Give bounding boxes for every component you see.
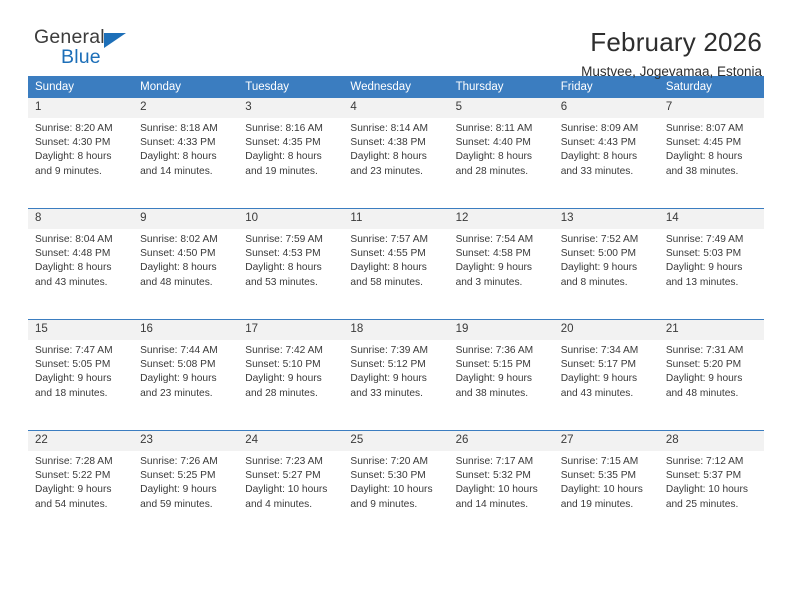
daylight-text-line1: Daylight: 10 hours [350, 483, 442, 497]
day-details: Sunrise: 7:59 AM Sunset: 4:53 PM Dayligh… [238, 229, 343, 290]
sunrise-text: Sunrise: 8:09 AM [561, 122, 653, 136]
day-cell[interactable]: 1 Sunrise: 8:20 AM Sunset: 4:30 PM Dayli… [28, 98, 133, 209]
day-cell[interactable]: 21 Sunrise: 7:31 AM Sunset: 5:20 PM Dayl… [659, 320, 764, 431]
daylight-text-line2: and 33 minutes. [561, 165, 653, 179]
daylight-text-line2: and 28 minutes. [245, 387, 337, 401]
day-number: 9 [133, 209, 238, 229]
day-cell[interactable]: 12 Sunrise: 7:54 AM Sunset: 4:58 PM Dayl… [449, 209, 554, 320]
sunrise-text: Sunrise: 7:59 AM [245, 233, 337, 247]
day-details: Sunrise: 7:31 AM Sunset: 5:20 PM Dayligh… [659, 340, 764, 401]
day-cell[interactable]: 13 Sunrise: 7:52 AM Sunset: 5:00 PM Dayl… [554, 209, 659, 320]
sunset-text: Sunset: 5:17 PM [561, 358, 653, 372]
daylight-text-line1: Daylight: 9 hours [666, 261, 758, 275]
day-number: 18 [343, 320, 448, 340]
daylight-text-line2: and 48 minutes. [140, 276, 232, 290]
day-number: 3 [238, 98, 343, 118]
day-cell[interactable]: 16 Sunrise: 7:44 AM Sunset: 5:08 PM Dayl… [133, 320, 238, 431]
calendar-page: General Blue February 2026 Mustvee, Joge… [0, 0, 792, 612]
sunset-text: Sunset: 5:12 PM [350, 358, 442, 372]
day-details: Sunrise: 7:42 AM Sunset: 5:10 PM Dayligh… [238, 340, 343, 401]
daylight-text-line1: Daylight: 9 hours [350, 372, 442, 386]
sunrise-text: Sunrise: 7:52 AM [561, 233, 653, 247]
day-cell[interactable]: 14 Sunrise: 7:49 AM Sunset: 5:03 PM Dayl… [659, 209, 764, 320]
day-number: 6 [554, 98, 659, 118]
title-block: February 2026 Mustvee, Jogevamaa, Estoni… [581, 26, 764, 82]
day-details: Sunrise: 8:04 AM Sunset: 4:48 PM Dayligh… [28, 229, 133, 290]
sunrise-text: Sunrise: 7:47 AM [35, 344, 127, 358]
day-details: Sunrise: 7:34 AM Sunset: 5:17 PM Dayligh… [554, 340, 659, 401]
sunrise-text: Sunrise: 8:02 AM [140, 233, 232, 247]
sunrise-text: Sunrise: 7:31 AM [666, 344, 758, 358]
day-number: 10 [238, 209, 343, 229]
daylight-text-line2: and 9 minutes. [35, 165, 127, 179]
daylight-text-line2: and 25 minutes. [666, 498, 758, 512]
sunset-text: Sunset: 5:25 PM [140, 469, 232, 483]
sunrise-text: Sunrise: 7:44 AM [140, 344, 232, 358]
sunset-text: Sunset: 5:20 PM [666, 358, 758, 372]
day-cell[interactable]: 10 Sunrise: 7:59 AM Sunset: 4:53 PM Dayl… [238, 209, 343, 320]
daylight-text-line1: Daylight: 9 hours [140, 483, 232, 497]
sunset-text: Sunset: 5:08 PM [140, 358, 232, 372]
daylight-text-line2: and 38 minutes. [456, 387, 548, 401]
day-cell[interactable]: 24 Sunrise: 7:23 AM Sunset: 5:27 PM Dayl… [238, 431, 343, 542]
weekday-header-thursday: Thursday [449, 76, 554, 98]
sunset-text: Sunset: 4:45 PM [666, 136, 758, 150]
sunrise-sunset-calendar: Sunday Monday Tuesday Wednesday Thursday… [28, 76, 764, 541]
sunrise-text: Sunrise: 7:17 AM [456, 455, 548, 469]
sunset-text: Sunset: 5:15 PM [456, 358, 548, 372]
daylight-text-line2: and 58 minutes. [350, 276, 442, 290]
day-details: Sunrise: 8:02 AM Sunset: 4:50 PM Dayligh… [133, 229, 238, 290]
weekday-header-tuesday: Tuesday [238, 76, 343, 98]
day-details: Sunrise: 7:44 AM Sunset: 5:08 PM Dayligh… [133, 340, 238, 401]
daylight-text-line1: Daylight: 10 hours [245, 483, 337, 497]
daylight-text-line2: and 3 minutes. [456, 276, 548, 290]
sunset-text: Sunset: 5:37 PM [666, 469, 758, 483]
page-header: General Blue February 2026 Mustvee, Joge… [28, 0, 764, 72]
sunrise-text: Sunrise: 7:28 AM [35, 455, 127, 469]
week-row: 8 Sunrise: 8:04 AM Sunset: 4:48 PM Dayli… [28, 209, 764, 320]
sunrise-text: Sunrise: 7:15 AM [561, 455, 653, 469]
day-cell[interactable]: 2 Sunrise: 8:18 AM Sunset: 4:33 PM Dayli… [133, 98, 238, 209]
sunset-text: Sunset: 5:27 PM [245, 469, 337, 483]
sunset-text: Sunset: 5:10 PM [245, 358, 337, 372]
day-cell[interactable]: 22 Sunrise: 7:28 AM Sunset: 5:22 PM Dayl… [28, 431, 133, 542]
daylight-text-line1: Daylight: 8 hours [245, 150, 337, 164]
day-number: 8 [28, 209, 133, 229]
day-cell[interactable]: 5 Sunrise: 8:11 AM Sunset: 4:40 PM Dayli… [449, 98, 554, 209]
daylight-text-line2: and 43 minutes. [561, 387, 653, 401]
daylight-text-line2: and 23 minutes. [350, 165, 442, 179]
day-number: 12 [449, 209, 554, 229]
daylight-text-line2: and 48 minutes. [666, 387, 758, 401]
sunrise-text: Sunrise: 8:11 AM [456, 122, 548, 136]
day-number: 7 [659, 98, 764, 118]
sunrise-text: Sunrise: 8:20 AM [35, 122, 127, 136]
sunset-text: Sunset: 4:55 PM [350, 247, 442, 261]
day-details: Sunrise: 8:16 AM Sunset: 4:35 PM Dayligh… [238, 118, 343, 179]
daylight-text-line2: and 14 minutes. [140, 165, 232, 179]
daylight-text-line2: and 28 minutes. [456, 165, 548, 179]
sunrise-text: Sunrise: 7:54 AM [456, 233, 548, 247]
weekday-header-sunday: Sunday [28, 76, 133, 98]
sunrise-text: Sunrise: 7:36 AM [456, 344, 548, 358]
day-cell[interactable]: 23 Sunrise: 7:26 AM Sunset: 5:25 PM Dayl… [133, 431, 238, 542]
day-details: Sunrise: 8:09 AM Sunset: 4:43 PM Dayligh… [554, 118, 659, 179]
daylight-text-line2: and 33 minutes. [350, 387, 442, 401]
sunrise-text: Sunrise: 8:07 AM [666, 122, 758, 136]
day-cell[interactable]: 4 Sunrise: 8:14 AM Sunset: 4:38 PM Dayli… [343, 98, 448, 209]
sunset-text: Sunset: 4:53 PM [245, 247, 337, 261]
sunrise-text: Sunrise: 8:14 AM [350, 122, 442, 136]
sunrise-text: Sunrise: 8:04 AM [35, 233, 127, 247]
week-row: 22 Sunrise: 7:28 AM Sunset: 5:22 PM Dayl… [28, 431, 764, 542]
sunset-text: Sunset: 4:35 PM [245, 136, 337, 150]
day-number: 11 [343, 209, 448, 229]
day-details: Sunrise: 7:57 AM Sunset: 4:55 PM Dayligh… [343, 229, 448, 290]
daylight-text-line1: Daylight: 8 hours [245, 261, 337, 275]
daylight-text-line2: and 9 minutes. [350, 498, 442, 512]
day-number: 14 [659, 209, 764, 229]
sunset-text: Sunset: 4:50 PM [140, 247, 232, 261]
daylight-text-line2: and 38 minutes. [666, 165, 758, 179]
day-number: 24 [238, 431, 343, 451]
day-number: 13 [554, 209, 659, 229]
sunset-text: Sunset: 5:30 PM [350, 469, 442, 483]
day-cell[interactable]: 11 Sunrise: 7:57 AM Sunset: 4:55 PM Dayl… [343, 209, 448, 320]
sunset-text: Sunset: 4:58 PM [456, 247, 548, 261]
page-subtitle: Mustvee, Jogevamaa, Estonia [581, 62, 762, 82]
sunrise-text: Sunrise: 7:39 AM [350, 344, 442, 358]
sunrise-text: Sunrise: 7:20 AM [350, 455, 442, 469]
day-number: 20 [554, 320, 659, 340]
logo-text-blue: Blue [61, 46, 154, 68]
daylight-text-line2: and 4 minutes. [245, 498, 337, 512]
daylight-text-line2: and 19 minutes. [245, 165, 337, 179]
day-details: Sunrise: 7:23 AM Sunset: 5:27 PM Dayligh… [238, 451, 343, 512]
daylight-text-line1: Daylight: 9 hours [561, 372, 653, 386]
day-cell[interactable]: 6 Sunrise: 8:09 AM Sunset: 4:43 PM Dayli… [554, 98, 659, 209]
daylight-text-line2: and 54 minutes. [35, 498, 127, 512]
sunrise-text: Sunrise: 7:12 AM [666, 455, 758, 469]
day-cell[interactable]: 3 Sunrise: 8:16 AM Sunset: 4:35 PM Dayli… [238, 98, 343, 209]
sunset-text: Sunset: 4:40 PM [456, 136, 548, 150]
daylight-text-line2: and 18 minutes. [35, 387, 127, 401]
daylight-text-line2: and 53 minutes. [245, 276, 337, 290]
sunset-text: Sunset: 5:35 PM [561, 469, 653, 483]
daylight-text-line1: Daylight: 9 hours [561, 261, 653, 275]
day-cell[interactable]: 7 Sunrise: 8:07 AM Sunset: 4:45 PM Dayli… [659, 98, 764, 209]
daylight-text-line2: and 43 minutes. [35, 276, 127, 290]
day-details: Sunrise: 7:15 AM Sunset: 5:35 PM Dayligh… [554, 451, 659, 512]
daylight-text-line1: Daylight: 8 hours [350, 150, 442, 164]
sunrise-text: Sunrise: 7:42 AM [245, 344, 337, 358]
day-details: Sunrise: 7:20 AM Sunset: 5:30 PM Dayligh… [343, 451, 448, 512]
day-details: Sunrise: 7:26 AM Sunset: 5:25 PM Dayligh… [133, 451, 238, 512]
day-number: 15 [28, 320, 133, 340]
day-cell[interactable]: 18 Sunrise: 7:39 AM Sunset: 5:12 PM Dayl… [343, 320, 448, 431]
sunrise-text: Sunrise: 7:26 AM [140, 455, 232, 469]
day-cell[interactable]: 28 Sunrise: 7:12 AM Sunset: 5:37 PM Dayl… [659, 431, 764, 542]
day-cell[interactable]: 8 Sunrise: 8:04 AM Sunset: 4:48 PM Dayli… [28, 209, 133, 320]
day-details: Sunrise: 7:39 AM Sunset: 5:12 PM Dayligh… [343, 340, 448, 401]
sunrise-text: Sunrise: 7:57 AM [350, 233, 442, 247]
daylight-text-line2: and 59 minutes. [140, 498, 232, 512]
day-number: 5 [449, 98, 554, 118]
sunset-text: Sunset: 4:38 PM [350, 136, 442, 150]
sunrise-text: Sunrise: 7:49 AM [666, 233, 758, 247]
day-cell[interactable]: 27 Sunrise: 7:15 AM Sunset: 5:35 PM Dayl… [554, 431, 659, 542]
day-number: 26 [449, 431, 554, 451]
sunset-text: Sunset: 4:43 PM [561, 136, 653, 150]
day-number: 23 [133, 431, 238, 451]
day-number: 17 [238, 320, 343, 340]
daylight-text-line2: and 23 minutes. [140, 387, 232, 401]
day-number: 19 [449, 320, 554, 340]
daylight-text-line1: Daylight: 8 hours [35, 150, 127, 164]
day-number: 28 [659, 431, 764, 451]
daylight-text-line1: Daylight: 9 hours [666, 372, 758, 386]
daylight-text-line1: Daylight: 8 hours [140, 261, 232, 275]
day-details: Sunrise: 7:17 AM Sunset: 5:32 PM Dayligh… [449, 451, 554, 512]
day-number: 25 [343, 431, 448, 451]
day-number: 4 [343, 98, 448, 118]
general-blue-logo[interactable]: General Blue [28, 26, 154, 74]
daylight-text-line1: Daylight: 9 hours [245, 372, 337, 386]
day-number: 2 [133, 98, 238, 118]
day-cell[interactable]: 17 Sunrise: 7:42 AM Sunset: 5:10 PM Dayl… [238, 320, 343, 431]
daylight-text-line1: Daylight: 10 hours [456, 483, 548, 497]
day-details: Sunrise: 7:47 AM Sunset: 5:05 PM Dayligh… [28, 340, 133, 401]
sunset-text: Sunset: 5:32 PM [456, 469, 548, 483]
day-cell[interactable]: 26 Sunrise: 7:17 AM Sunset: 5:32 PM Dayl… [449, 431, 554, 542]
day-number: 21 [659, 320, 764, 340]
day-cell[interactable]: 20 Sunrise: 7:34 AM Sunset: 5:17 PM Dayl… [554, 320, 659, 431]
daylight-text-line1: Daylight: 9 hours [456, 372, 548, 386]
week-row: 15 Sunrise: 7:47 AM Sunset: 5:05 PM Dayl… [28, 320, 764, 431]
sunrise-text: Sunrise: 8:16 AM [245, 122, 337, 136]
daylight-text-line1: Daylight: 9 hours [456, 261, 548, 275]
day-details: Sunrise: 8:20 AM Sunset: 4:30 PM Dayligh… [28, 118, 133, 179]
daylight-text-line1: Daylight: 8 hours [350, 261, 442, 275]
daylight-text-line1: Daylight: 10 hours [561, 483, 653, 497]
daylight-text-line1: Daylight: 8 hours [456, 150, 548, 164]
sunrise-text: Sunrise: 7:23 AM [245, 455, 337, 469]
daylight-text-line2: and 13 minutes. [666, 276, 758, 290]
daylight-text-line2: and 19 minutes. [561, 498, 653, 512]
sunrise-text: Sunrise: 7:34 AM [561, 344, 653, 358]
daylight-text-line1: Daylight: 8 hours [35, 261, 127, 275]
day-details: Sunrise: 7:49 AM Sunset: 5:03 PM Dayligh… [659, 229, 764, 290]
logo-text-general: General [34, 26, 105, 48]
daylight-text-line1: Daylight: 8 hours [140, 150, 232, 164]
sunset-text: Sunset: 4:33 PM [140, 136, 232, 150]
day-cell[interactable]: 9 Sunrise: 8:02 AM Sunset: 4:50 PM Dayli… [133, 209, 238, 320]
day-cell[interactable]: 19 Sunrise: 7:36 AM Sunset: 5:15 PM Dayl… [449, 320, 554, 431]
day-details: Sunrise: 7:36 AM Sunset: 5:15 PM Dayligh… [449, 340, 554, 401]
day-details: Sunrise: 8:18 AM Sunset: 4:33 PM Dayligh… [133, 118, 238, 179]
weekday-header-wednesday: Wednesday [343, 76, 448, 98]
daylight-text-line1: Daylight: 10 hours [666, 483, 758, 497]
day-number: 1 [28, 98, 133, 118]
day-number: 27 [554, 431, 659, 451]
day-details: Sunrise: 8:11 AM Sunset: 4:40 PM Dayligh… [449, 118, 554, 179]
day-number: 22 [28, 431, 133, 451]
sunset-text: Sunset: 5:03 PM [666, 247, 758, 261]
sunrise-text: Sunrise: 8:18 AM [140, 122, 232, 136]
daylight-text-line1: Daylight: 9 hours [35, 483, 127, 497]
day-cell[interactable]: 15 Sunrise: 7:47 AM Sunset: 5:05 PM Dayl… [28, 320, 133, 431]
sunset-text: Sunset: 4:30 PM [35, 136, 127, 150]
sunset-text: Sunset: 4:48 PM [35, 247, 127, 261]
daylight-text-line2: and 8 minutes. [561, 276, 653, 290]
week-row: 1 Sunrise: 8:20 AM Sunset: 4:30 PM Dayli… [28, 98, 764, 209]
sunset-text: Sunset: 5:22 PM [35, 469, 127, 483]
day-cell[interactable]: 25 Sunrise: 7:20 AM Sunset: 5:30 PM Dayl… [343, 431, 448, 542]
day-number: 16 [133, 320, 238, 340]
daylight-text-line1: Daylight: 8 hours [561, 150, 653, 164]
day-details: Sunrise: 7:28 AM Sunset: 5:22 PM Dayligh… [28, 451, 133, 512]
day-details: Sunrise: 7:54 AM Sunset: 4:58 PM Dayligh… [449, 229, 554, 290]
sunset-text: Sunset: 5:00 PM [561, 247, 653, 261]
weekday-header-monday: Monday [133, 76, 238, 98]
logo-triangle-icon [104, 33, 126, 48]
daylight-text-line1: Daylight: 9 hours [35, 372, 127, 386]
daylight-text-line1: Daylight: 8 hours [666, 150, 758, 164]
day-details: Sunrise: 8:07 AM Sunset: 4:45 PM Dayligh… [659, 118, 764, 179]
daylight-text-line1: Daylight: 9 hours [140, 372, 232, 386]
day-details: Sunrise: 8:14 AM Sunset: 4:38 PM Dayligh… [343, 118, 448, 179]
page-title: February 2026 [581, 26, 762, 58]
daylight-text-line2: and 14 minutes. [456, 498, 548, 512]
sunset-text: Sunset: 5:05 PM [35, 358, 127, 372]
day-details: Sunrise: 7:52 AM Sunset: 5:00 PM Dayligh… [554, 229, 659, 290]
day-details: Sunrise: 7:12 AM Sunset: 5:37 PM Dayligh… [659, 451, 764, 512]
